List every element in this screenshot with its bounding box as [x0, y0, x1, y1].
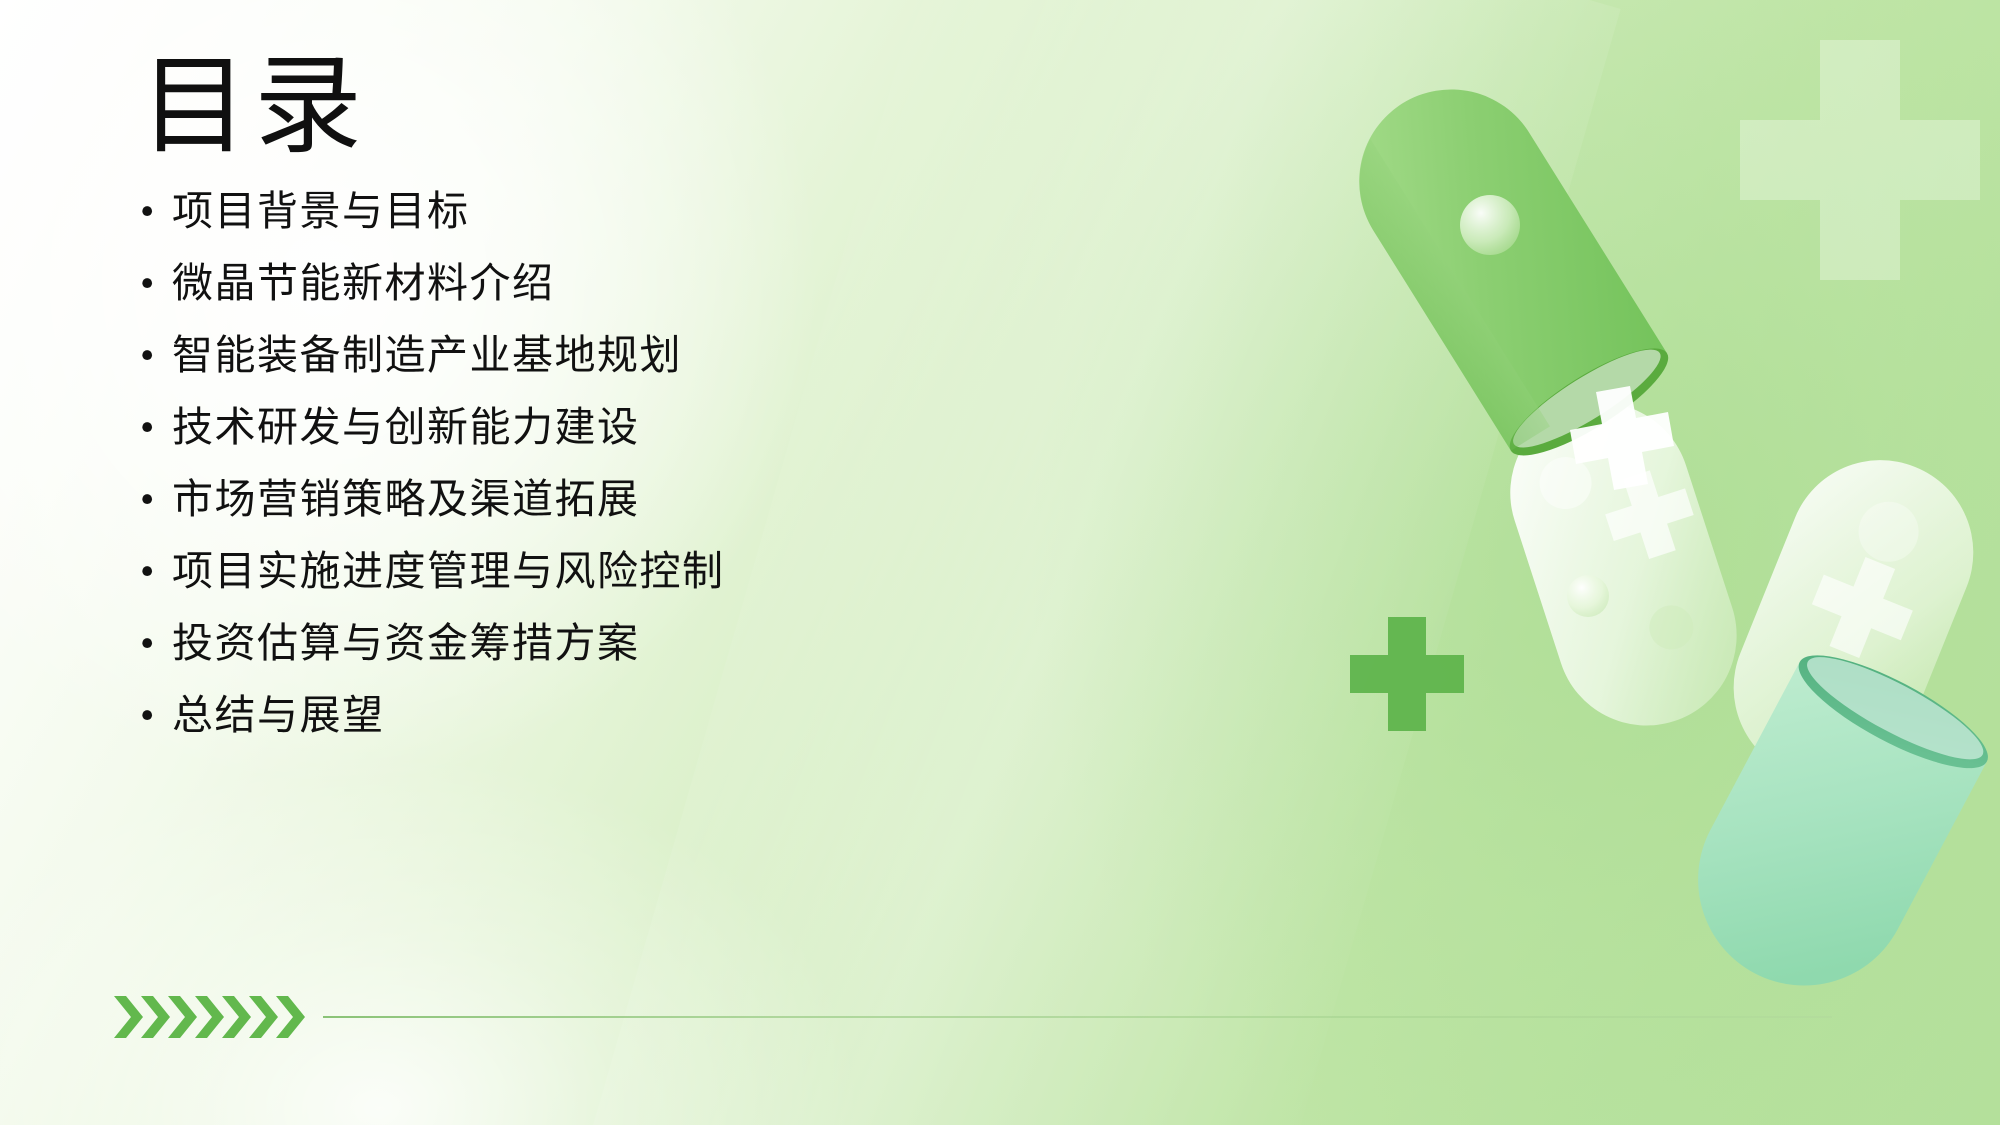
- slide-root: 目录 • 项目背景与目标 • 微晶节能新材料介绍 • 智能装备制造产业基地规划 …: [0, 0, 2000, 1125]
- toc-list: • 项目背景与目标 • 微晶节能新材料介绍 • 智能装备制造产业基地规划 • 技…: [140, 191, 1000, 767]
- footer-divider: [112, 989, 1832, 1045]
- bullet-icon: •: [140, 407, 172, 448]
- list-item[interactable]: • 智能装备制造产业基地规划: [140, 335, 1000, 407]
- toc-item-label: 项目背景与目标: [172, 191, 470, 232]
- toc-item-label: 微晶节能新材料介绍: [172, 263, 555, 304]
- list-item[interactable]: • 市场营销策略及渠道拓展: [140, 479, 1000, 551]
- toc-item-label: 总结与展望: [172, 695, 385, 736]
- toc-item-label: 投资估算与资金筹措方案: [172, 623, 640, 664]
- chevron-group: [112, 994, 301, 1040]
- list-item[interactable]: • 微晶节能新材料介绍: [140, 263, 1000, 335]
- page-title: 目录: [140, 48, 1000, 169]
- slide-content: 目录 • 项目背景与目标 • 微晶节能新材料介绍 • 智能装备制造产业基地规划 …: [140, 48, 1000, 767]
- bullet-icon: •: [140, 551, 172, 592]
- bullet-icon: •: [140, 623, 172, 664]
- bullet-icon: •: [140, 191, 172, 232]
- bullet-icon: •: [140, 695, 172, 736]
- toc-item-label: 项目实施进度管理与风险控制: [172, 551, 725, 592]
- chevron-right-icon: [274, 994, 307, 1040]
- list-item[interactable]: • 项目背景与目标: [140, 191, 1000, 263]
- list-item[interactable]: • 项目实施进度管理与风险控制: [140, 551, 1000, 623]
- list-item[interactable]: • 技术研发与创新能力建设: [140, 407, 1000, 479]
- toc-item-label: 市场营销策略及渠道拓展: [172, 479, 640, 520]
- bullet-icon: •: [140, 263, 172, 304]
- toc-item-label: 智能装备制造产业基地规划: [172, 335, 682, 376]
- bullet-icon: •: [140, 335, 172, 376]
- toc-item-label: 技术研发与创新能力建设: [172, 407, 640, 448]
- list-item[interactable]: • 总结与展望: [140, 695, 1000, 767]
- horizontal-rule: [323, 1016, 1832, 1018]
- bullet-icon: •: [140, 479, 172, 520]
- list-item[interactable]: • 投资估算与资金筹措方案: [140, 623, 1000, 695]
